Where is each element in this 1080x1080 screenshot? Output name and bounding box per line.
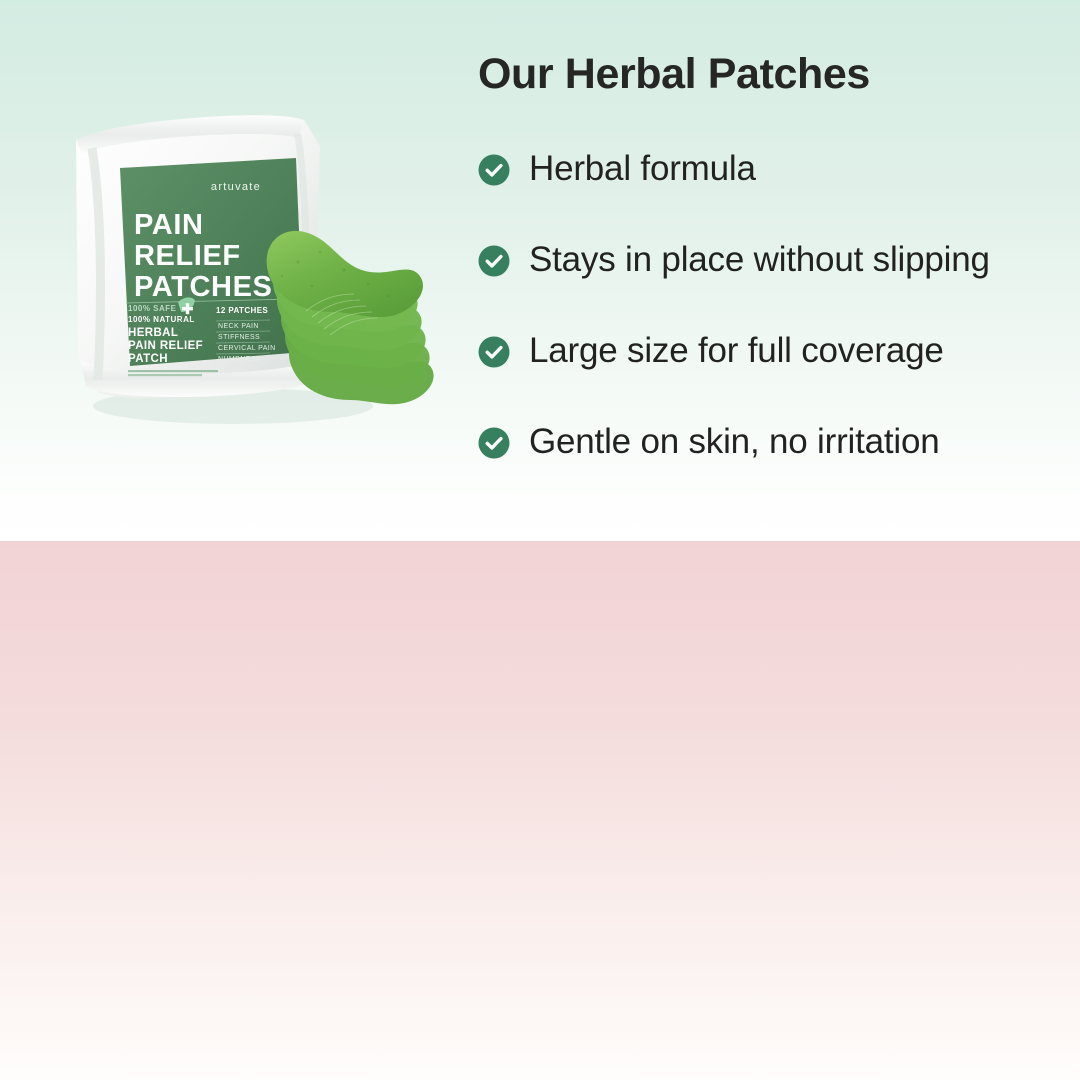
check-circle-icon — [478, 336, 510, 368]
package-use-1: NECK PAIN — [218, 323, 259, 330]
pros-heading: Our Herbal Patches — [478, 52, 1068, 98]
pros-bullet-2-label: Stays in place without slipping — [529, 241, 990, 280]
package-count: 12 PATCHES — [216, 306, 268, 315]
pros-section: artuvate PAIN RELIEF PATCHES . 100% SAFE… — [0, 0, 1080, 541]
pros-bullet-4-label: Gentle on skin, no irritation — [529, 423, 940, 462]
check-circle-icon — [478, 245, 510, 277]
package-use-4: NUMBNESS — [218, 356, 261, 363]
pros-bullet-4: Gentle on skin, no irritation — [478, 421, 1068, 465]
package-subtitle-line-2: PAIN RELIEF — [128, 340, 203, 352]
herbal-patch-package-photo: artuvate PAIN RELIEF PATCHES . 100% SAFE… — [58, 104, 460, 436]
package-subtitle-line-1: HERBAL — [128, 327, 178, 339]
cons-section: PATCH lo — [0, 541, 1080, 1080]
pros-bullet-2: Stays in place without slipping — [478, 239, 1068, 283]
check-circle-icon — [478, 427, 510, 459]
pros-bullet-3: Large size for full coverage — [478, 330, 1068, 374]
package-badge-line-1: 100% SAFE — [128, 304, 177, 313]
pros-copy-column: Our Herbal Patches Herbal formula Stays … — [478, 52, 1068, 465]
package-badge-line-2: 100% NATURAL — [128, 315, 195, 324]
check-circle-icon — [478, 154, 510, 186]
comparison-infographic: artuvate PAIN RELIEF PATCHES . 100% SAFE… — [0, 0, 1080, 1080]
package-title-line-2: RELIEF — [134, 240, 241, 272]
package-title-line-1: PAIN — [134, 209, 204, 241]
pros-bullet-1: Herbal formula — [478, 148, 1068, 192]
package-brand: artuvate — [211, 181, 261, 193]
package-use-3: CERVICAL PAIN — [218, 345, 276, 352]
pros-bullet-list: Herbal formula Stays in place without sl… — [478, 148, 1068, 465]
package-use-2: STIFFNESS — [218, 334, 260, 341]
pros-bullet-1-label: Herbal formula — [529, 150, 756, 189]
package-subtitle-line-3: PATCH — [128, 353, 168, 365]
package-title-line-3: PATCHES — [134, 271, 272, 303]
pros-bullet-3-label: Large size for full coverage — [529, 332, 944, 371]
